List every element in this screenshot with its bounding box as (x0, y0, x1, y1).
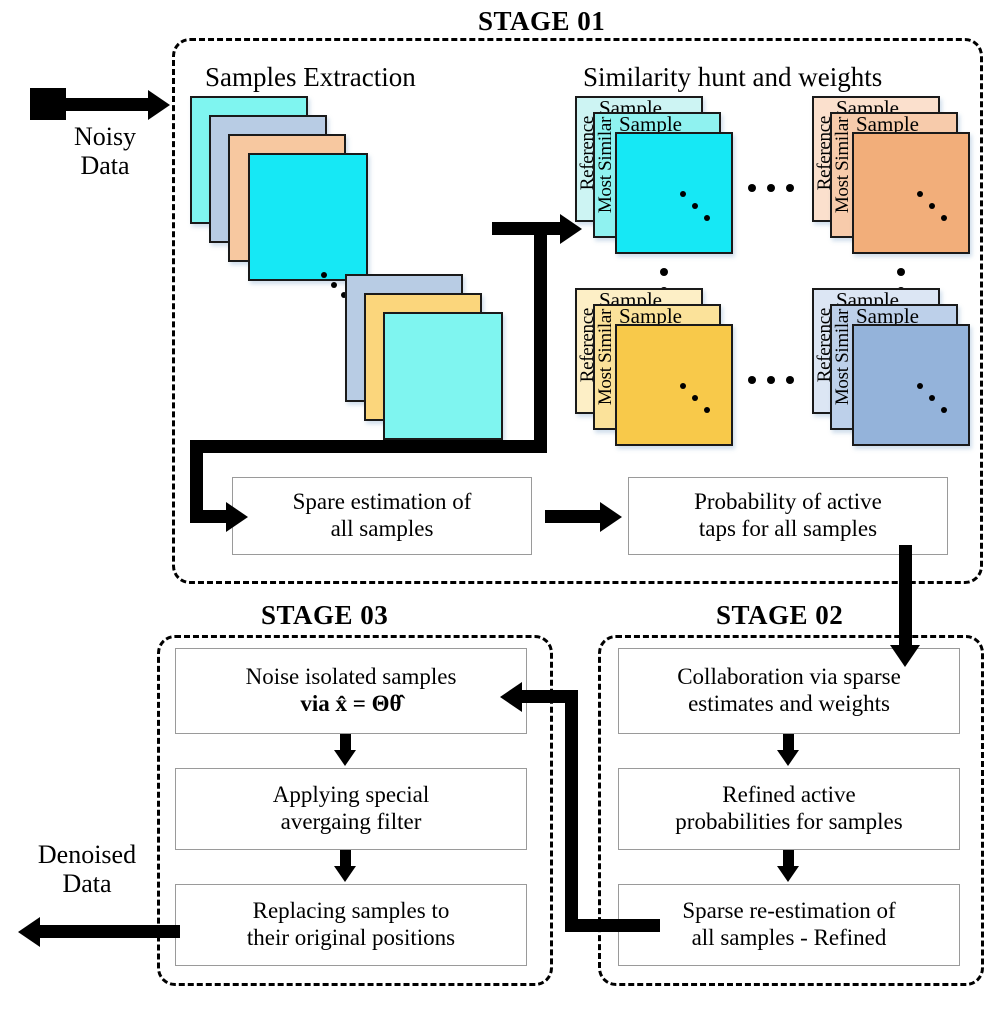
similarity-dot-2 (929, 395, 935, 401)
most-similar-label: Most Similar (833, 117, 852, 213)
extraction-branch-to-similarity-head (560, 214, 582, 244)
box-sparse-re-estimation[interactable]: Sparse re-estimation of all samples - Re… (618, 884, 960, 966)
stage1-to-stage2-shaft (899, 545, 912, 650)
stage-02-title: STAGE 02 (708, 600, 851, 631)
stage3-arrow-2-head (334, 866, 356, 882)
extraction-branch-to-similarity (492, 222, 562, 235)
stage-03-title: STAGE 03 (253, 600, 396, 631)
similarity-dot-2 (929, 203, 935, 209)
denoised-data-label: Denoised Data (12, 840, 162, 898)
box-spare-estimation-line2: all samples (293, 516, 472, 543)
similarity-hunt-title: Similarity hunt and weights (583, 62, 882, 93)
box-probability-active-taps[interactable]: Probability of active taps for all sampl… (628, 477, 948, 555)
similarity-card-front (615, 132, 733, 254)
extraction-card-4 (248, 153, 368, 281)
box-noise-isolated-line1: Noise isolated samples (246, 664, 457, 691)
box-replacing-samples[interactable]: Replacing samples to their original posi… (175, 884, 527, 966)
similarity-row2-ellipsis (748, 376, 794, 384)
stage2-arrow-1-head (777, 750, 799, 766)
box-refined-active-probabilities[interactable]: Refined active probabilities for samples (618, 768, 960, 850)
denoised-data-label-line1: Denoised (12, 840, 162, 869)
box-sparse-re-line1: Sparse re-estimation of (682, 898, 895, 925)
stage3-arrow-1-head (334, 750, 356, 766)
similarity-card-front (852, 324, 970, 446)
output-arrow-head (18, 917, 40, 947)
similarity-dot-1 (680, 383, 686, 389)
output-arrow-shaft (40, 925, 180, 938)
stage-01-title: STAGE 01 (470, 6, 613, 37)
similarity-card-front (852, 132, 970, 254)
stage2-to-stage3-arrow-head (500, 682, 522, 712)
sparse-feed-horizontal (190, 510, 228, 523)
sparse-to-probability-head (600, 502, 622, 532)
sparse-feed-arrow-head (226, 502, 248, 532)
box-noise-isolated-line2: via x̂ = Θθ̂ (246, 691, 457, 718)
input-arrow-head (148, 90, 170, 120)
sparse-to-probability-shaft (545, 510, 603, 523)
extraction-ellipsis-dot-1 (321, 272, 327, 278)
similarity-dot-1 (680, 191, 686, 197)
most-similar-label: Most Similar (596, 309, 615, 405)
box-collaboration-line2: estimates and weights (677, 691, 901, 718)
similarity-dot-1 (917, 383, 923, 389)
stage2-to-stage3-vertical-segment (565, 690, 578, 932)
box-refined-line1: Refined active (675, 782, 902, 809)
extraction-ellipsis-dot-2 (331, 282, 337, 288)
stage1-to-stage2-head (890, 645, 920, 667)
box-averaging-line1: Applying special (273, 782, 430, 809)
box-replacing-line2: their original positions (247, 925, 455, 952)
box-collaboration-line1: Collaboration via sparse (677, 664, 901, 691)
noisy-data-label-line1: Noisy (40, 122, 170, 151)
box-spare-estimation-line1: Spare estimation of (293, 489, 472, 516)
extraction-card-7 (383, 312, 503, 440)
similarity-row1-ellipsis (748, 184, 794, 192)
similarity-card-front (615, 324, 733, 446)
box-replacing-line1: Replacing samples to (247, 898, 455, 925)
similarity-dot-1 (917, 191, 923, 197)
noisy-data-label: Noisy Data (40, 122, 170, 180)
box-averaging-line2: avergaing filter (273, 809, 430, 836)
similarity-dot-3 (704, 407, 710, 413)
box-probability-line2: taps for all samples (694, 516, 882, 543)
stage2-arrow-2-head (777, 866, 799, 882)
sparse-feed-vertical (190, 440, 203, 516)
denoised-data-label-line2: Data (12, 869, 162, 898)
extraction-branch-trunk (534, 222, 547, 452)
stage2-to-stage3-top-segment (520, 690, 578, 703)
noisy-data-label-line2: Data (40, 151, 170, 180)
similarity-dot-2 (692, 395, 698, 401)
box-applying-averaging-filter[interactable]: Applying special avergaing filter (175, 768, 527, 850)
similarity-dot-3 (704, 215, 710, 221)
stage2-to-stage3-bottom-segment (565, 919, 660, 932)
box-probability-line1: Probability of active (694, 489, 882, 516)
similarity-dot-2 (692, 203, 698, 209)
box-noise-isolated-samples[interactable]: Noise isolated samples via x̂ = Θθ̂ (175, 648, 527, 734)
similarity-dot-3 (941, 407, 947, 413)
samples-extraction-title: Samples Extraction (205, 62, 416, 93)
box-spare-estimation[interactable]: Spare estimation of all samples (232, 477, 532, 555)
box-sparse-re-line2: all samples - Refined (682, 925, 895, 952)
box-refined-line2: probabilities for samples (675, 809, 902, 836)
most-similar-label: Most Similar (833, 309, 852, 405)
extraction-branch-to-sparse (190, 440, 547, 453)
most-similar-label: Most Similar (596, 117, 615, 213)
similarity-dot-3 (941, 215, 947, 221)
input-arrow-shaft (60, 98, 150, 111)
